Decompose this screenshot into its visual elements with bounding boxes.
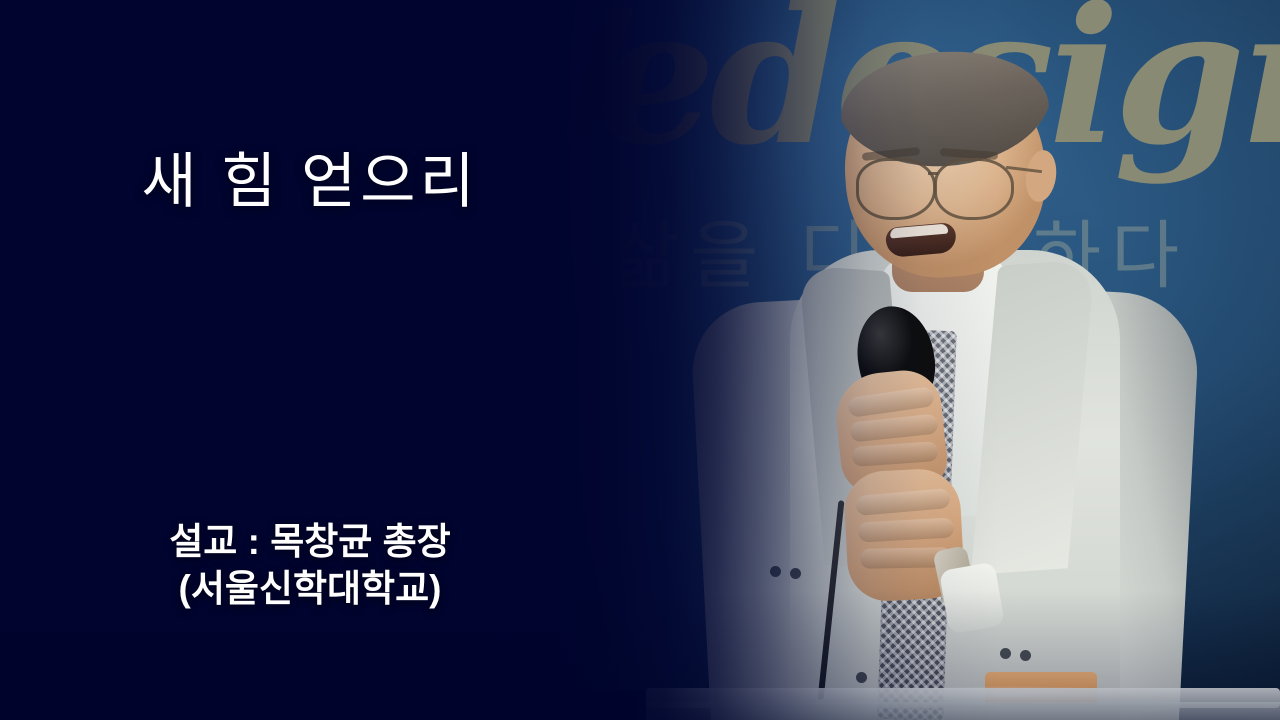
subtitle-line-affiliation: (서울신학대학교) [0,565,620,612]
subtitle-line-speaker: 설교 : 목창균 총장 [0,518,620,565]
presentation-slide: edesign 삶을 디자인하다 [0,0,1280,720]
slide-title: 새 힘 얻으리 [0,150,620,215]
text-column: 새 힘 얻으리 설교 : 목창균 총장 (서울신학대학교) [0,0,620,720]
slide-subtitle: 설교 : 목창균 총장 (서울신학대학교) [0,518,620,613]
